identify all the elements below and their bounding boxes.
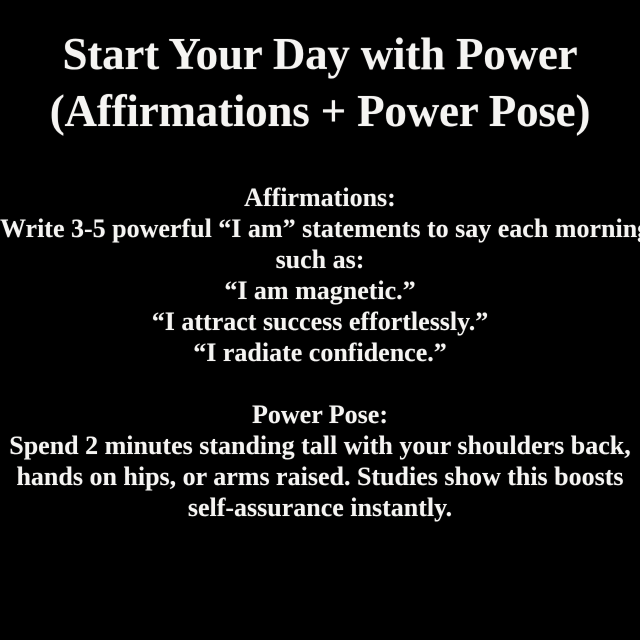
affirmation-statement-1: “I am magnetic.” (0, 275, 640, 306)
poster-title: Start Your Day with Power (Affirmations … (0, 26, 640, 140)
power-pose-line-1: Spend 2 minutes standing tall with your … (0, 430, 640, 461)
title-line-2: (Affirmations + Power Pose) (0, 83, 640, 140)
affirmation-statement-2: “I attract success effortlessly.” (0, 306, 640, 337)
section-power-pose: Power Pose: Spend 2 minutes standing tal… (0, 399, 640, 523)
affirmations-line-1: Write 3-5 powerful “I am” statements to … (0, 213, 640, 244)
affirmation-statement-3: “I radiate confidence.” (0, 337, 640, 368)
section-affirmations: Affirmations: Write 3-5 powerful “I am” … (0, 182, 640, 368)
section-heading-affirmations: Affirmations: (0, 182, 640, 213)
affirmations-line-2: such as: (0, 244, 640, 275)
power-pose-line-2: hands on hips, or arms raised. Studies s… (0, 461, 640, 492)
title-line-1: Start Your Day with Power (0, 26, 640, 83)
section-heading-power-pose: Power Pose: (0, 399, 640, 430)
poster-canvas: Start Your Day with Power (Affirmations … (0, 0, 640, 640)
poster-body: Affirmations: Write 3-5 powerful “I am” … (0, 182, 640, 523)
power-pose-line-3: self-assurance instantly. (0, 492, 640, 523)
